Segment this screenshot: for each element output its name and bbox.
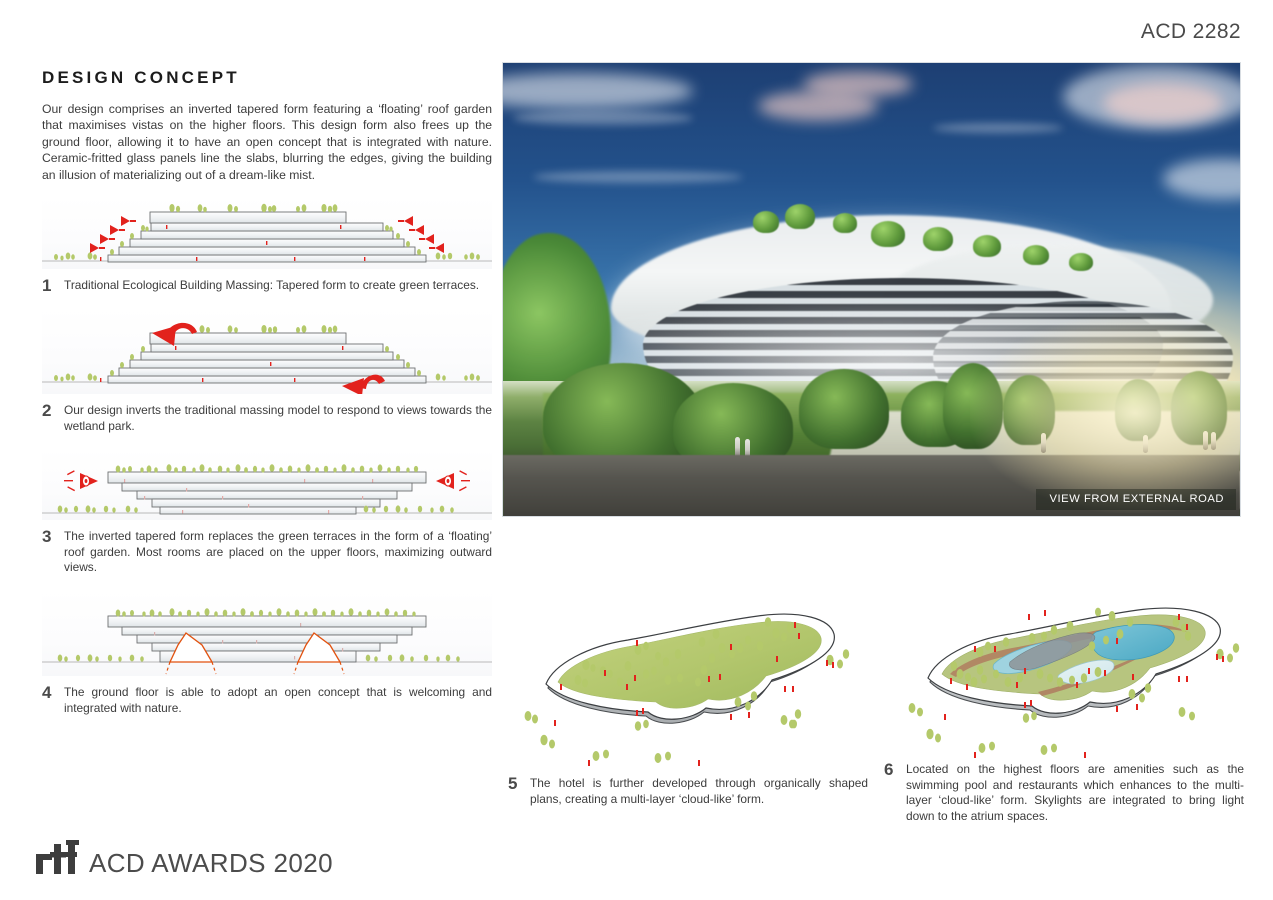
shrub — [1171, 371, 1227, 445]
caption-1-text: Traditional Ecological Building Massing:… — [64, 278, 492, 294]
axon-5-svg — [508, 588, 878, 768]
roof-tree — [973, 235, 1001, 257]
caption-3-text: The inverted tapered form replaces the g… — [64, 529, 492, 576]
void-extension-lines — [166, 662, 344, 674]
diagram-block-3: 3 The inverted tapered form replaces the… — [42, 448, 492, 576]
caption-3: 3 The inverted tapered form replaces the… — [42, 529, 492, 576]
cloud — [1103, 83, 1223, 123]
cloud-wisp — [533, 171, 743, 183]
diagram-4-svg — [42, 590, 492, 676]
caption-4-text: The ground floor is able to adopt an ope… — [64, 685, 492, 716]
roof-tree — [785, 204, 815, 229]
design-concept-column: DESIGN CONCEPT Our design comprises an i… — [42, 68, 492, 730]
caption-2: 2 Our design inverts the traditional mas… — [42, 403, 492, 434]
roof-tree — [1023, 245, 1049, 265]
view-cone-right-icon — [436, 470, 470, 491]
axon-diagram-6 — [888, 578, 1263, 763]
diagram-1-svg — [42, 197, 492, 269]
caption-4-number: 4 — [42, 685, 55, 716]
footer-award-text: ACD AWARDS 2020 — [89, 850, 333, 876]
pedestrian — [1041, 433, 1046, 453]
intro-paragraph: Our design comprises an inverted tapered… — [42, 101, 492, 183]
view-cone-left-icon — [64, 470, 98, 491]
caption-1: 1 Traditional Ecological Building Massin… — [42, 278, 492, 294]
roof-tree — [753, 211, 779, 233]
diagram-block-4: 4 The ground floor is able to adopt an o… — [42, 590, 492, 716]
axon-6-svg — [888, 578, 1263, 763]
caption-3-number: 3 — [42, 529, 55, 576]
massing-diagram-3 — [42, 448, 492, 520]
caption-2-text: Our design inverts the traditional massi… — [64, 403, 492, 434]
caption-5-text: The hotel is further developed through o… — [530, 776, 868, 807]
diagram-block-2: 2 Our design inverts the traditional mas… — [42, 308, 492, 434]
pedestrian — [1203, 431, 1208, 450]
diagram-2-svg — [42, 308, 492, 394]
shrub — [943, 363, 1003, 449]
caption-6: 6 Located on the highest floors are amen… — [884, 762, 1244, 824]
caption-6-number: 6 — [884, 762, 897, 824]
massing-diagram-2 — [42, 308, 492, 394]
caption-1-number: 1 — [42, 278, 55, 294]
cloud-wisp — [513, 111, 693, 125]
massing-diagram-4 — [42, 590, 492, 676]
caption-5: 5 The hotel is further developed through… — [508, 776, 868, 807]
render-view-label: VIEW FROM EXTERNAL ROAD — [1036, 489, 1236, 510]
cloud-wisp — [933, 123, 1063, 133]
caption-5-number: 5 — [508, 776, 521, 807]
rtf-logo-icon — [36, 840, 80, 876]
shrub — [799, 369, 889, 449]
shrub — [1115, 379, 1161, 441]
roof-tree — [1069, 253, 1093, 271]
footer: ACD AWARDS 2020 — [36, 840, 333, 876]
diagram-3-svg — [42, 448, 492, 520]
page-title: DESIGN CONCEPT — [42, 68, 492, 88]
diagram-block-1: 1 Traditional Ecological Building Massin… — [42, 197, 492, 294]
caption-2-number: 2 — [42, 403, 55, 434]
cloud — [803, 71, 913, 97]
cyclist — [1143, 435, 1148, 453]
caption-6-text: Located on the highest floors are amenit… — [906, 762, 1244, 824]
roof-tree — [871, 221, 905, 247]
pedestrian — [1211, 432, 1216, 450]
massing-diagram-1 — [42, 197, 492, 269]
caption-4: 4 The ground floor is able to adopt an o… — [42, 685, 492, 716]
roof-tree — [923, 227, 953, 251]
axon-diagram-5 — [508, 588, 878, 768]
exterior-render-image: VIEW FROM EXTERNAL ROAD — [502, 62, 1241, 517]
board-code: ACD 2282 — [1141, 20, 1241, 44]
roof-tree — [833, 213, 857, 233]
shrub — [1003, 375, 1055, 445]
